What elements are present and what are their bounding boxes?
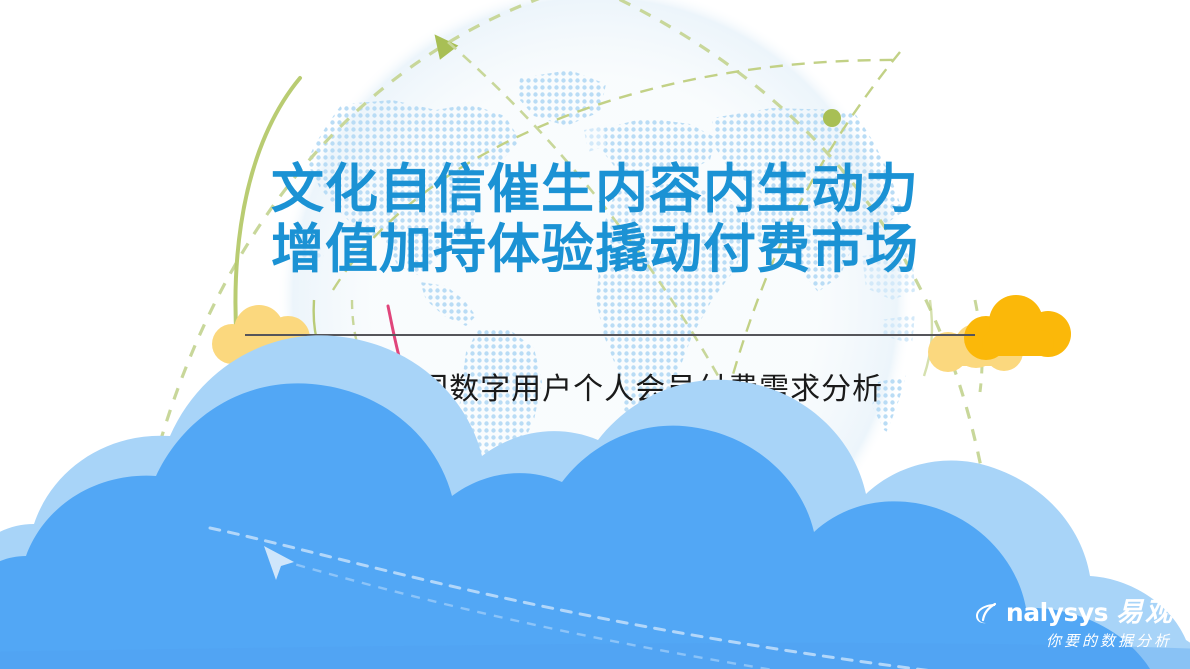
- continent-south-america: [458, 330, 542, 510]
- yellow-cloud-right-pale: [928, 324, 1023, 372]
- continent-central-america: [420, 282, 476, 326]
- logo-tagline: 你要的数据分析: [972, 630, 1172, 651]
- continent-greenland: [518, 70, 606, 126]
- analysys-logo: nalysys 易观 你要的数据分析: [972, 599, 1174, 651]
- yellow-cloud-right-gold: [964, 295, 1071, 360]
- orbit-tick-right-a: [924, 300, 932, 376]
- orbit-tick-left-b: [352, 300, 368, 372]
- cloud-dashed-arc: [210, 528, 1100, 669]
- orbit-arc-dashed-inner: [448, 42, 790, 520]
- globe-halo: [277, 0, 913, 618]
- subtitle-block: 2018中国数字用户个人会员付费需求分析: [0, 370, 1190, 410]
- title-divider: [245, 334, 975, 336]
- orbit-tick-left-a: [314, 300, 330, 372]
- orbit-arrow-icon: [435, 30, 461, 60]
- title-block: 文化自信催生内容内生动力 增值加持体验撬动付费市场: [0, 160, 1190, 280]
- logo-main-row: nalysys 易观: [972, 599, 1174, 626]
- cursor-arrow-icon: [264, 546, 294, 580]
- presentation-slide: 文化自信催生内容内生动力 增值加持体验撬动付费市场 2018中国数字用户个人会员…: [0, 0, 1190, 669]
- logo-brand-cn: 易观: [1116, 599, 1174, 626]
- title-line-2: 增值加持体验撬动付费市场: [0, 220, 1190, 280]
- continent-british-isles: [584, 126, 606, 152]
- title-line-1: 文化自信催生内容内生动力: [0, 160, 1190, 220]
- analysys-swoosh-icon: [972, 600, 998, 626]
- continent-indonesia: [880, 312, 968, 344]
- subtitle-text: 2018中国数字用户个人会员付费需求分析: [0, 370, 1190, 410]
- orbit-marker-dot: [823, 109, 841, 127]
- continent-new-zealand: [1016, 446, 1046, 478]
- logo-wordmark: nalysys: [1006, 600, 1108, 626]
- continents-group: [258, 70, 1046, 510]
